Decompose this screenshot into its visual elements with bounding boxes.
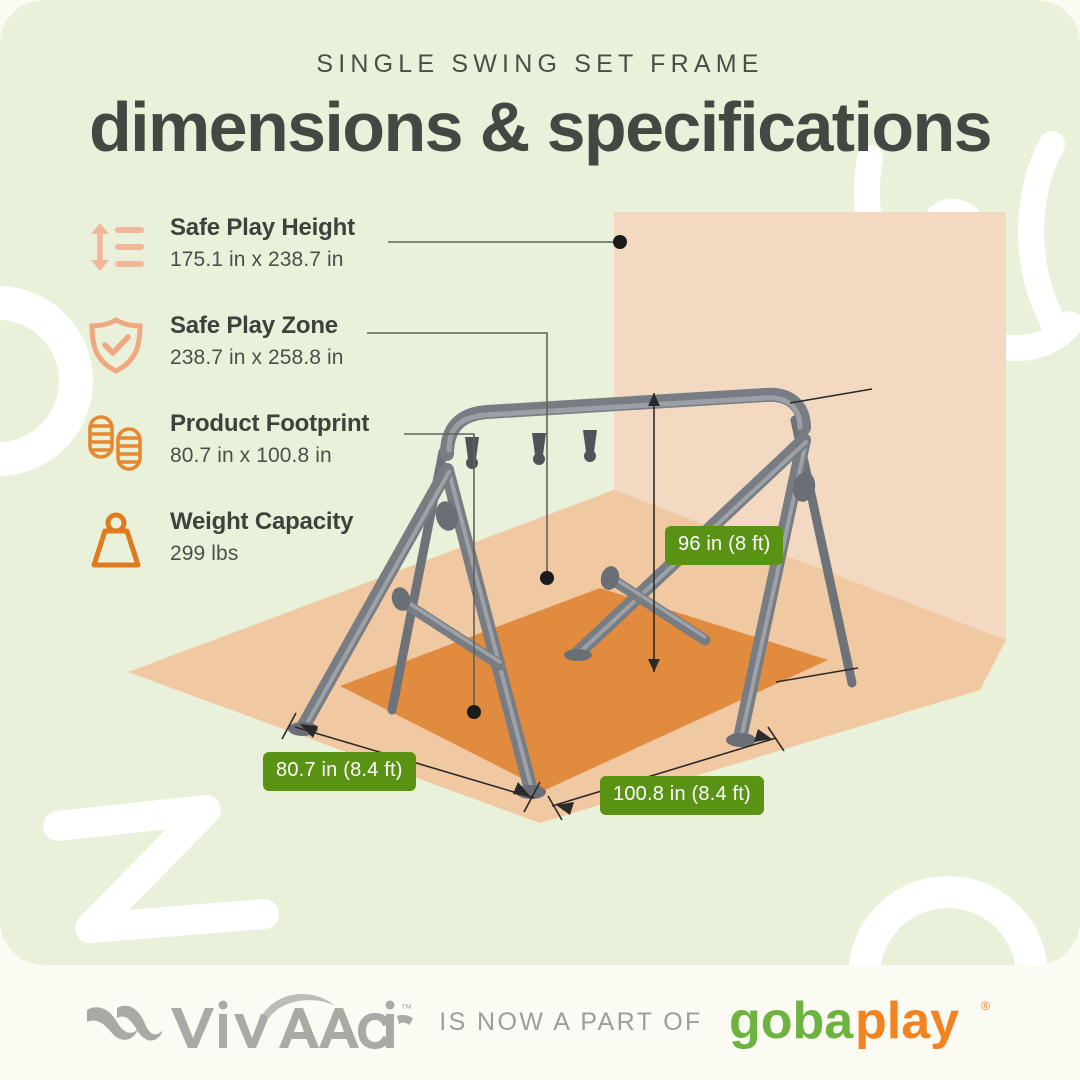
spec-value: 80.7 in x 100.8 in — [170, 444, 332, 468]
spec-value: 299 lbs — [170, 542, 238, 566]
vivaactive-logo: ™ — [83, 992, 413, 1054]
spec-item-safe-play-zone: Safe Play Zone 238.7 in x 258.8 in — [86, 310, 506, 398]
weight-icon — [86, 510, 146, 572]
leader-dot-footprint — [467, 705, 481, 719]
spec-item-weight-capacity: Weight Capacity 299 lbs — [86, 506, 506, 594]
gobaplay-goba: goba — [729, 992, 854, 1050]
badge-height: 96 in (8 ft) — [665, 526, 783, 565]
spec-item-product-footprint: Product Footprint 80.7 in x 100.8 in — [86, 408, 506, 496]
spec-value: 238.7 in x 258.8 in — [170, 346, 344, 370]
spec-title: Weight Capacity — [170, 508, 353, 536]
footprints-icon — [86, 412, 146, 474]
shield-check-icon — [86, 314, 146, 376]
spec-title: Safe Play Height — [170, 214, 355, 242]
footer-middle-text: IS NOW A PART OF — [439, 1008, 702, 1037]
infographic-root: SINGLE SWING SET FRAME dimensions & spec… — [0, 0, 1080, 1080]
gobaplay-play: play — [855, 992, 959, 1050]
badge-width: 80.7 in (8.4 ft) — [263, 752, 416, 791]
spec-value: 175.1 in x 238.7 in — [170, 248, 344, 272]
spec-item-safe-play-height: Safe Play Height 175.1 in x 238.7 in — [86, 212, 506, 300]
gobaplay-registered: ® — [981, 999, 990, 1013]
footer-bar: ™ IS NOW A PART OF goba play ® — [0, 965, 1080, 1080]
specifications-list: Safe Play Height 175.1 in x 238.7 in Saf… — [86, 212, 506, 604]
badge-depth: 100.8 in (8.4 ft) — [600, 776, 764, 815]
leader-dot-zone — [540, 571, 554, 585]
spec-title: Product Footprint — [170, 410, 369, 438]
green-background-panel: SINGLE SWING SET FRAME dimensions & spec… — [0, 0, 1080, 965]
spec-title: Safe Play Zone — [170, 312, 338, 340]
height-arrows-icon — [86, 216, 146, 278]
leader-dot-height — [613, 235, 627, 249]
gobaplay-logo: goba play ® — [729, 990, 997, 1056]
vivaactive-tm: ™ — [401, 1003, 412, 1015]
